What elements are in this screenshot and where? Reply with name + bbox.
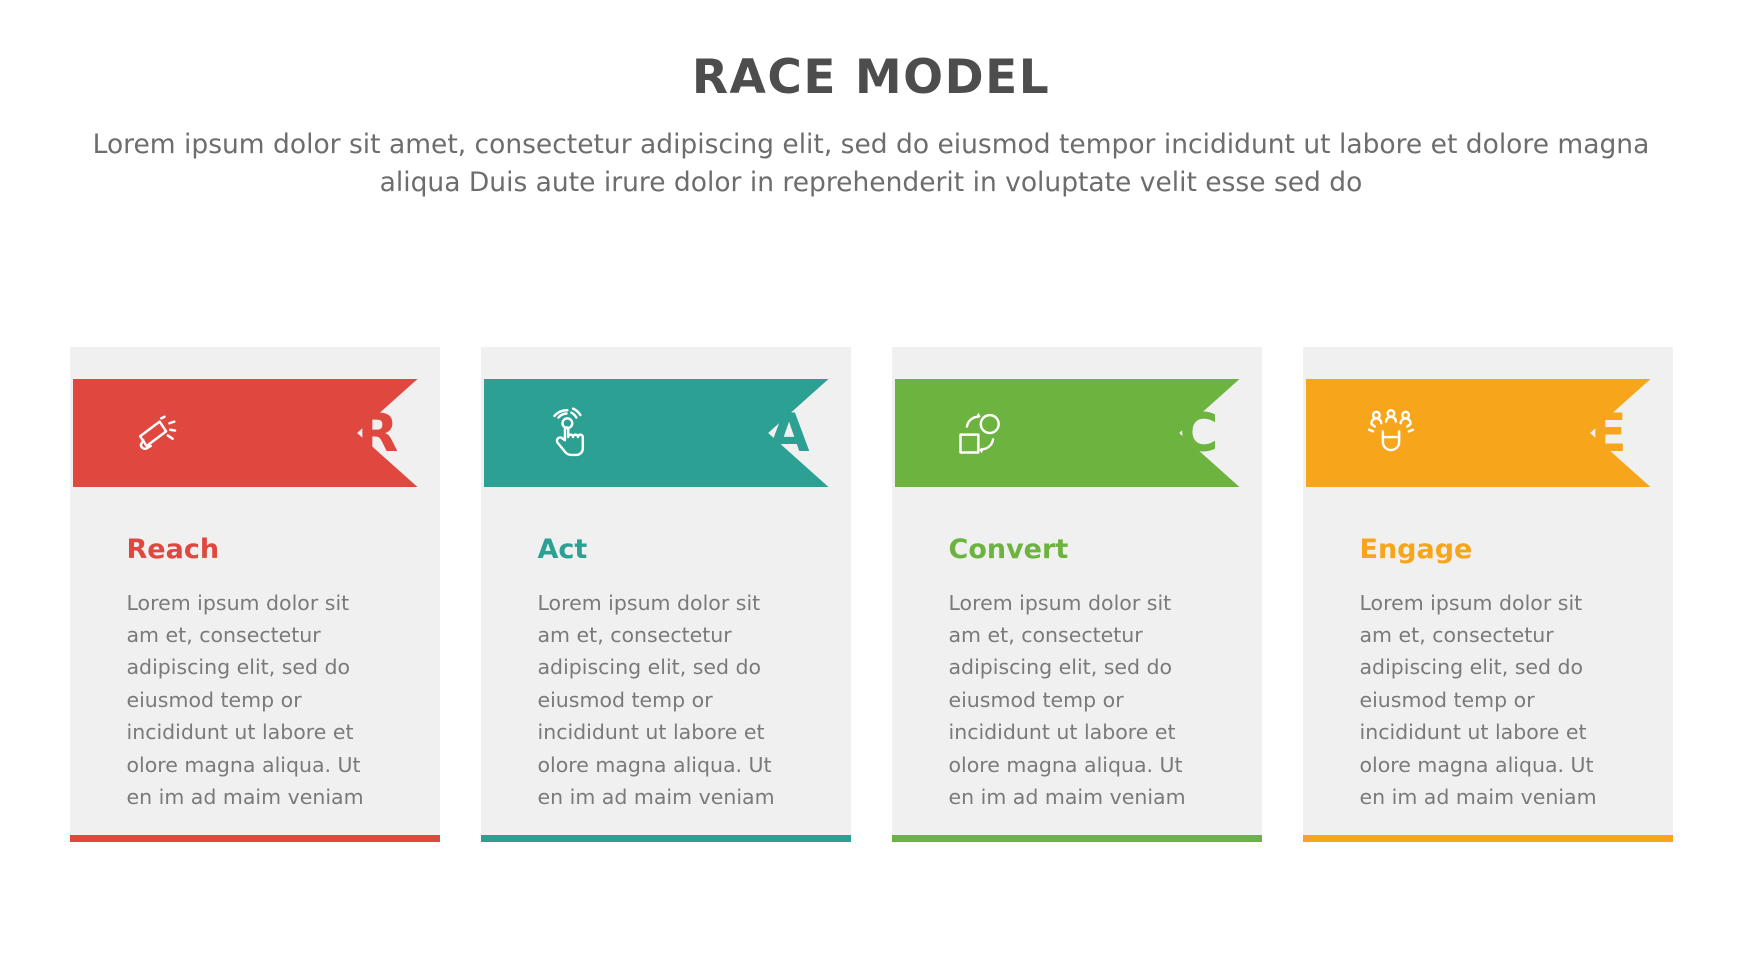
card-letter-reach: R xyxy=(358,379,399,487)
card-heading-act: Act xyxy=(538,535,794,565)
card-body-engage: Engage Lorem ipsum dolor sit am et, cons… xyxy=(1303,487,1673,813)
page-title: RACE MODEL xyxy=(0,52,1742,104)
card-text-act: Lorem ipsum dolor sit am et, consectetur… xyxy=(538,587,794,814)
audience-magnet-icon xyxy=(1364,406,1418,460)
card-text-reach: Lorem ipsum dolor sit am et, consectetur… xyxy=(127,587,383,814)
card-body-act: Act Lorem ipsum dolor sit am et, consect… xyxy=(481,487,851,813)
card-heading-convert: Convert xyxy=(949,535,1205,565)
card-reach[interactable]: R Reach Lorem ipsum dolor sit am et, con… xyxy=(70,347,440,842)
card-list: R Reach Lorem ipsum dolor sit am et, con… xyxy=(0,347,1742,842)
card-bottom-bar-reach xyxy=(70,835,440,842)
page-subtitle: Lorem ipsum dolor sit amet, consectetur … xyxy=(76,126,1666,203)
transform-shapes-icon xyxy=(953,406,1007,460)
megaphone-icon xyxy=(131,406,185,460)
tap-gesture-icon xyxy=(542,406,596,460)
card-bottom-bar-convert xyxy=(892,835,1262,842)
card-bottom-bar-act xyxy=(481,835,851,842)
card-heading-engage: Engage xyxy=(1360,535,1616,565)
card-body-reach: Reach Lorem ipsum dolor sit am et, conse… xyxy=(70,487,440,813)
card-letter-act: A xyxy=(769,379,811,487)
infographic-page: RACE MODEL Lorem ipsum dolor sit amet, c… xyxy=(0,0,1742,980)
header: RACE MODEL Lorem ipsum dolor sit amet, c… xyxy=(0,0,1742,203)
card-act[interactable]: A Act Lorem ipsum dolor sit am et, conse… xyxy=(481,347,851,842)
card-heading-reach: Reach xyxy=(127,535,383,565)
card-text-convert: Lorem ipsum dolor sit am et, consectetur… xyxy=(949,587,1205,814)
card-letter-convert: C xyxy=(1180,379,1219,487)
card-bottom-bar-engage xyxy=(1303,835,1673,842)
card-body-convert: Convert Lorem ipsum dolor sit am et, con… xyxy=(892,487,1262,813)
card-engage[interactable]: E Engage Lorem ipsum dolor sit am et, co… xyxy=(1303,347,1673,842)
card-text-engage: Lorem ipsum dolor sit am et, consectetur… xyxy=(1360,587,1616,814)
card-letter-engage: E xyxy=(1591,379,1628,487)
card-convert[interactable]: C Convert Lorem ipsum dolor sit am et, c… xyxy=(892,347,1262,842)
